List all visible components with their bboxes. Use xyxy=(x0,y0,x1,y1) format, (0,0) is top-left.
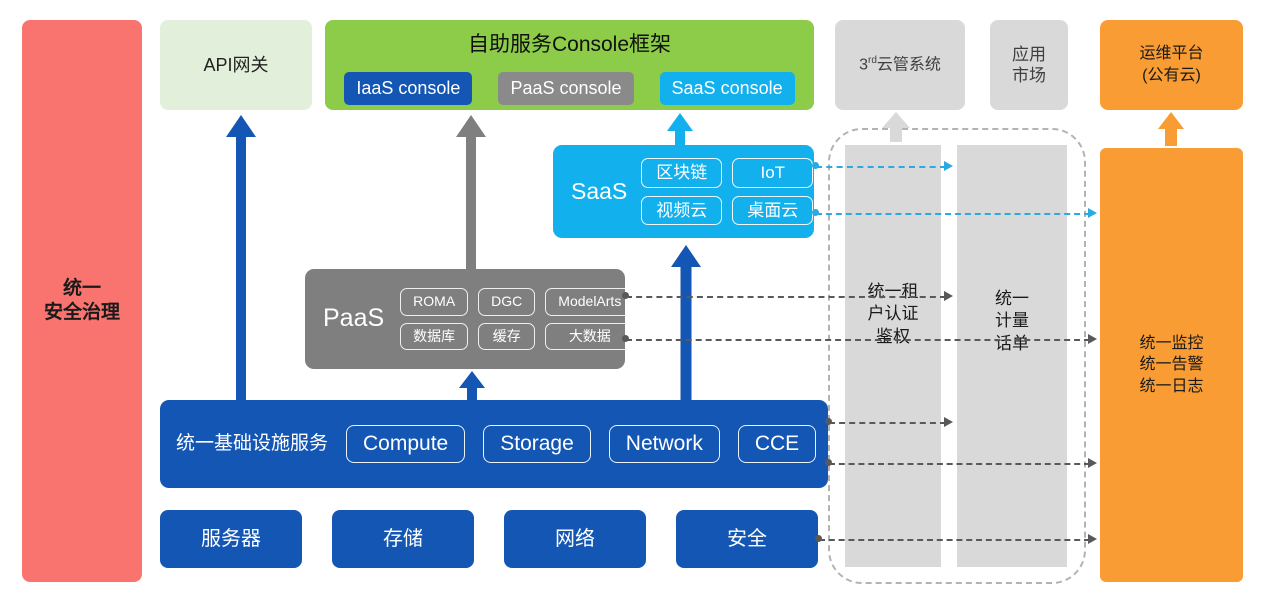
storage-label: 存储 xyxy=(383,527,423,552)
security-label-line1: 统一 xyxy=(63,277,101,301)
ops-side-line3: 统一日志 xyxy=(1139,376,1203,398)
api-gateway-label: API网关 xyxy=(203,54,268,77)
security-label-line2: 安全治理 xyxy=(44,301,120,325)
panel-paas: PaaS ROMA DGC ModelArts 数据库 缓存 大数据 xyxy=(305,269,625,369)
panel-api-gateway: API网关 xyxy=(160,20,312,110)
metering-line2: 计量 xyxy=(957,310,1067,332)
chip-iaas-console[interactable]: IaaS console xyxy=(344,72,472,105)
console-title: 自助服务Console框架 xyxy=(468,32,671,58)
panel-self-service-console: 自助服务Console框架 IaaS console PaaS console … xyxy=(325,20,814,110)
console-chip-row: IaaS console PaaS console SaaS console xyxy=(344,72,794,105)
saas-tag-iot[interactable]: IoT xyxy=(732,158,813,187)
panel-third-party-cloud-mgmt: 3rd云管系统 xyxy=(835,20,965,110)
iaas-label: 统一基础设施服务 xyxy=(176,432,328,456)
saas-tag-grid: 区块链 IoT 视频云 桌面云 xyxy=(641,158,813,225)
connector-iaas-to-tenant-auth xyxy=(829,422,946,424)
connector-arrowhead-iaas-1 xyxy=(944,417,953,427)
paas-tag-dgc[interactable]: DGC xyxy=(478,288,535,316)
arrow-iaas-to-api-gateway xyxy=(226,115,256,405)
connector-infra-to-ops xyxy=(819,539,1090,541)
network-label: 网络 xyxy=(555,527,595,552)
connector-arrowhead-infra xyxy=(1088,534,1097,544)
paas-tag-cache[interactable]: 缓存 xyxy=(478,323,535,351)
tenant-auth-line1: 统一租 xyxy=(845,281,941,303)
connector-saas-to-ops xyxy=(816,213,1090,215)
paas-tag-database[interactable]: 数据库 xyxy=(400,323,468,351)
security-infra-label: 安全 xyxy=(727,527,767,552)
paas-label: PaaS xyxy=(323,303,384,334)
connector-arrowhead-paas-2 xyxy=(1088,334,1097,344)
arrow-saas-to-console xyxy=(667,113,693,149)
iaas-tag-compute[interactable]: Compute xyxy=(346,425,465,463)
saas-tag-blockchain[interactable]: 区块链 xyxy=(641,158,722,187)
arrow-to-third-party-cloud xyxy=(881,112,911,142)
connector-paas-to-tenant-auth xyxy=(626,296,946,298)
panel-unified-monitoring: 统一监控 统一告警 统一日志 xyxy=(1100,148,1243,582)
ops-top-line1: 运维平台 xyxy=(1139,43,1203,65)
panel-unified-infrastructure-service: 统一基础设施服务 Compute Storage Network CCE xyxy=(160,400,828,488)
connector-iaas-to-ops xyxy=(829,463,1090,465)
column-tenant-auth xyxy=(845,145,941,567)
architecture-diagram: 统一 安全治理 API网关 自助服务Console框架 IaaS console… xyxy=(0,0,1265,605)
connector-arrowhead-saas-2 xyxy=(1088,208,1097,218)
arrow-to-ops-platform xyxy=(1157,112,1185,146)
connector-arrowhead-iaas-2 xyxy=(1088,458,1097,468)
metering-line3: 话单 xyxy=(957,333,1067,355)
ops-top-line2: (公有云) xyxy=(1142,65,1201,87)
chip-saas-console[interactable]: SaaS console xyxy=(660,72,795,105)
saas-tag-desktop-cloud[interactable]: 桌面云 xyxy=(732,196,813,225)
paas-tag-grid: ROMA DGC ModelArts 数据库 缓存 大数据 xyxy=(400,288,634,350)
connector-saas-to-tenant-auth xyxy=(816,166,946,168)
saas-tag-video-cloud[interactable]: 视频云 xyxy=(641,196,722,225)
panel-saas: SaaS 区块链 IoT 视频云 桌面云 xyxy=(553,145,814,238)
arrow-paas-to-console xyxy=(456,115,486,273)
paas-tag-bigdata[interactable]: 大数据 xyxy=(545,323,634,351)
app-market-line1: 应用 xyxy=(1012,44,1046,65)
tenant-auth-line3: 鉴权 xyxy=(845,326,941,348)
app-market-line2: 市场 xyxy=(1012,65,1046,86)
connector-arrowhead-saas-1 xyxy=(944,161,953,171)
tenant-auth-line2: 户认证 xyxy=(845,303,941,325)
column-metering-billing-label: 统一 计量 话单 xyxy=(957,288,1067,355)
panel-storage: 存储 xyxy=(332,510,474,568)
panel-network: 网络 xyxy=(504,510,646,568)
ops-side-line2: 统一告警 xyxy=(1139,354,1203,376)
panel-unified-security-governance: 统一 安全治理 xyxy=(22,20,142,582)
panel-servers: 服务器 xyxy=(160,510,302,568)
ops-side-line1: 统一监控 xyxy=(1139,333,1203,355)
paas-tag-modelarts[interactable]: ModelArts xyxy=(545,288,634,316)
connector-arrowhead-paas-1 xyxy=(944,291,953,301)
arrow-iaas-to-saas xyxy=(671,245,701,403)
iaas-tag-network[interactable]: Network xyxy=(609,425,720,463)
servers-label: 服务器 xyxy=(201,527,261,552)
column-metering-billing xyxy=(957,145,1067,567)
chip-paas-console[interactable]: PaaS console xyxy=(498,72,633,105)
iaas-tag-storage[interactable]: Storage xyxy=(483,425,591,463)
paas-tag-roma[interactable]: ROMA xyxy=(400,288,468,316)
connector-paas-to-ops xyxy=(626,339,1090,341)
panel-ops-platform-public-cloud: 运维平台 (公有云) xyxy=(1100,20,1243,110)
panel-app-market: 应用 市场 xyxy=(990,20,1068,110)
saas-label: SaaS xyxy=(571,177,627,206)
iaas-tag-cce[interactable]: CCE xyxy=(738,425,816,463)
arrow-iaas-to-paas xyxy=(459,371,485,403)
panel-security-infra: 安全 xyxy=(676,510,818,568)
metering-line1: 统一 xyxy=(957,288,1067,310)
third-party-label: 3rd云管系统 xyxy=(859,55,941,75)
